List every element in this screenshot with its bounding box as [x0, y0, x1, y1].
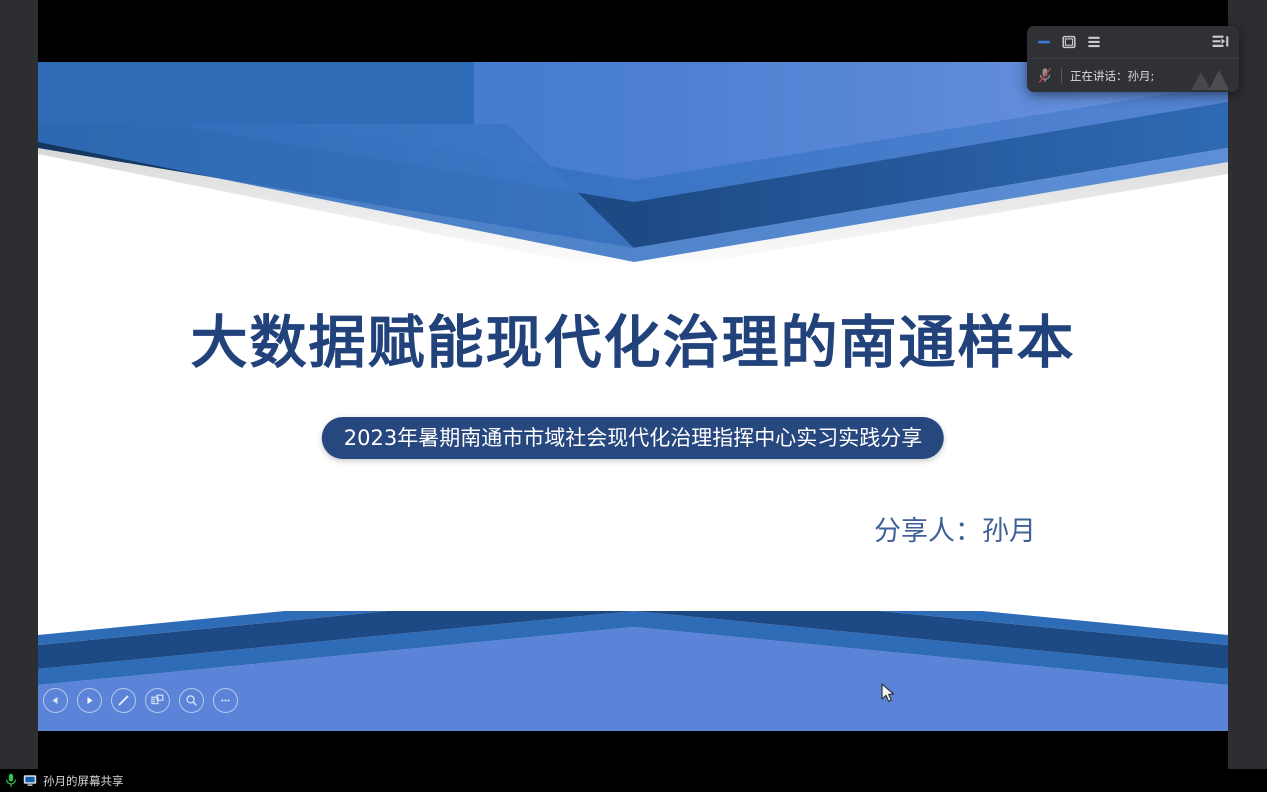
pen-icon [117, 694, 130, 707]
page-title: 大数据赋能现代化治理的南通样本 [38, 297, 1228, 379]
restore-window-icon[interactable] [1062, 35, 1076, 49]
os-taskbar[interactable]: 孙月的屏幕共享 [0, 769, 1267, 792]
subtitle-banner: 2023年暑期南通市市域社会现代化治理指挥中心实习实践分享 [322, 417, 944, 459]
triangle-right-icon [85, 696, 94, 705]
more-options-button[interactable] [213, 688, 238, 713]
shared-screen-region: 大数据赋能现代化治理的南通样本 2023年暑期南通市市域社会现代化治理指挥中心实… [38, 0, 1228, 769]
previous-slide-button[interactable] [43, 688, 68, 713]
bottom-chevron-decoration [38, 611, 1228, 731]
minimize-dash-icon[interactable] [1037, 35, 1051, 49]
top-chevron-decoration [38, 62, 1228, 262]
slide-overview-button[interactable] [145, 688, 170, 713]
grid-slides-icon [151, 694, 164, 707]
status-divider [1061, 68, 1062, 83]
taskbar-share-label: 孙月的屏幕共享 [43, 773, 124, 789]
pen-annotate-button[interactable] [111, 688, 136, 713]
zoom-magnifier-button[interactable] [179, 688, 204, 713]
presentation-toolbar[interactable] [43, 688, 238, 713]
magnifier-icon [185, 694, 198, 707]
zoom-waveform-icon [1189, 64, 1235, 92]
microphone-active-icon[interactable] [5, 773, 17, 788]
expand-panel-icon[interactable] [1212, 34, 1229, 49]
presentation-slide[interactable]: 大数据赋能现代化治理的南通样本 2023年暑期南通市市域社会现代化治理指挥中心实… [38, 62, 1228, 731]
microphone-muted-icon[interactable] [1037, 67, 1053, 84]
zoom-floating-control-bar[interactable]: 正在讲话：孙月; [1027, 26, 1239, 92]
triangle-left-icon [51, 696, 60, 705]
stacked-lines-icon[interactable] [1087, 35, 1101, 49]
ellipsis-icon [219, 694, 232, 707]
arrow-cursor-icon [881, 683, 897, 705]
next-slide-button[interactable] [77, 688, 102, 713]
zoom-bar-status-row: 正在讲话：孙月; [1027, 59, 1239, 92]
monitor-share-icon[interactable] [23, 774, 37, 787]
active-speaker-label: 正在讲话：孙月; [1070, 68, 1154, 84]
presenter-name: 分享人：孙月 [874, 509, 1036, 548]
zoom-bar-window-controls[interactable] [1027, 26, 1239, 59]
